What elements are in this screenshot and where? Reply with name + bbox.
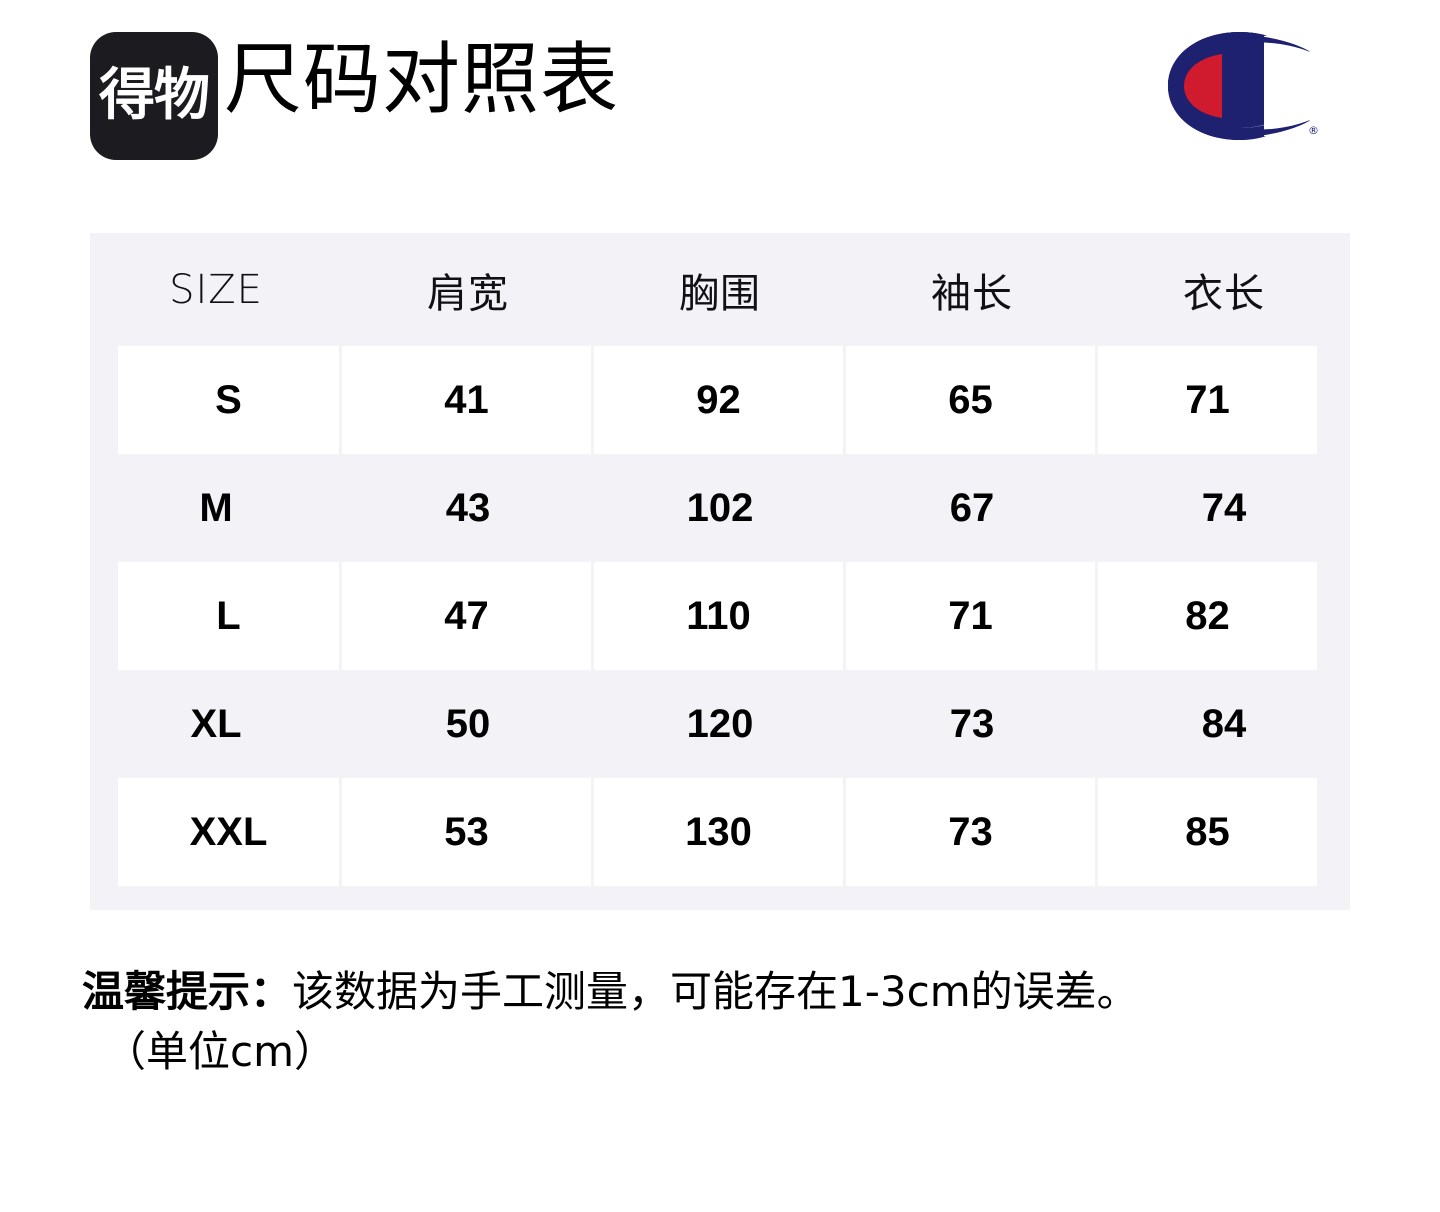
cell-sleeve: 71 — [846, 562, 1098, 670]
cell-chest: 110 — [594, 562, 846, 670]
page-title: 尺码对照表 — [224, 36, 619, 126]
size-chart-head: SIZE 肩宽 胸围 袖长 衣长 — [90, 233, 1350, 346]
page-header: 得物 尺码对照表 ® — [0, 0, 1440, 200]
cell-shoulder: 47 — [342, 562, 594, 670]
table-row: S 41 92 65 71 — [90, 346, 1350, 454]
cell-size: XXL — [90, 778, 342, 886]
cell-length: 74 — [1098, 454, 1350, 562]
cell-length: 84 — [1098, 670, 1350, 778]
column-header-sleeve: 袖长 — [846, 233, 1098, 346]
column-header-chest: 胸围 — [594, 233, 846, 346]
cell-size: L — [90, 562, 342, 670]
cell-size: S — [90, 346, 342, 454]
column-header-shoulder: 肩宽 — [342, 233, 594, 346]
cell-sleeve: 67 — [846, 454, 1098, 562]
table-header-row: SIZE 肩宽 胸围 袖长 衣长 — [90, 233, 1350, 346]
cell-sleeve: 73 — [846, 778, 1098, 886]
size-chart-body: S 41 92 65 71 M 43 102 67 74 L 47 110 71… — [90, 346, 1350, 886]
measurement-note-unit: （单位cm） — [82, 1022, 1372, 1082]
table-row: XXL 53 130 73 85 — [90, 778, 1350, 886]
cell-shoulder: 43 — [342, 454, 594, 562]
table-row: L 47 110 71 82 — [90, 562, 1350, 670]
cell-length: 71 — [1098, 346, 1350, 454]
size-chart-panel: SIZE 肩宽 胸围 袖长 衣长 S 41 92 65 71 M 43 102 … — [90, 233, 1350, 910]
column-header-length: 衣长 — [1098, 233, 1350, 346]
cell-shoulder: 41 — [342, 346, 594, 454]
measurement-note-label: 温馨提示： — [82, 967, 292, 1016]
cell-chest: 120 — [594, 670, 846, 778]
table-row: XL 50 120 73 84 — [90, 670, 1350, 778]
measurement-note-body: 该数据为手工测量，可能存在1-3cm的误差。 — [292, 967, 1139, 1016]
champion-logo: ® — [1160, 26, 1320, 146]
cell-chest: 92 — [594, 346, 846, 454]
cell-shoulder: 50 — [342, 670, 594, 778]
cell-sleeve: 65 — [846, 346, 1098, 454]
cell-size: XL — [90, 670, 342, 778]
dewu-brand-badge-label: 得物 — [99, 68, 209, 124]
cell-size: M — [90, 454, 342, 562]
cell-chest: 102 — [594, 454, 846, 562]
cell-shoulder: 53 — [342, 778, 594, 886]
column-header-size: SIZE — [90, 233, 342, 346]
dewu-brand-badge: 得物 — [90, 32, 218, 160]
cell-chest: 130 — [594, 778, 846, 886]
champion-open-top — [1264, 28, 1318, 86]
table-row: M 43 102 67 74 — [90, 454, 1350, 562]
cell-length: 82 — [1098, 562, 1350, 670]
measurement-note: 温馨提示：该数据为手工测量，可能存在1-3cm的误差。 （单位cm） — [82, 962, 1372, 1081]
size-chart-table: SIZE 肩宽 胸围 袖长 衣长 S 41 92 65 71 M 43 102 … — [90, 233, 1350, 886]
cell-length: 85 — [1098, 778, 1350, 886]
champion-registered-trademark-icon: ® — [1308, 124, 1319, 137]
cell-sleeve: 73 — [846, 670, 1098, 778]
